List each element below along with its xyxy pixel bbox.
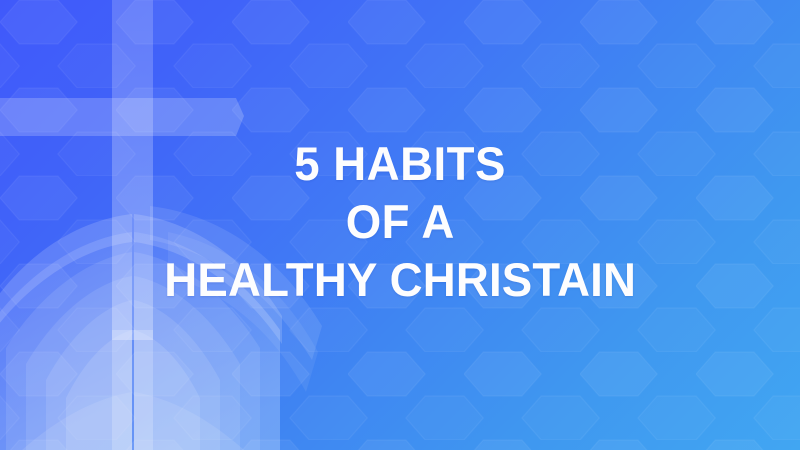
- graphic-canvas: 5 HABITS OF A HEALTHY CHRISTAIN: [0, 0, 800, 450]
- cross-and-book-emblem: [0, 0, 800, 450]
